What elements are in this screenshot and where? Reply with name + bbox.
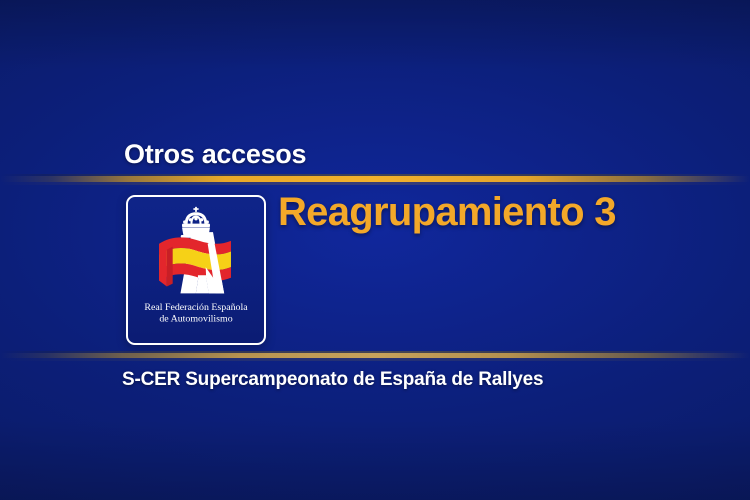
divider-bottom-cap <box>0 351 750 353</box>
divider-bottom-glow <box>0 358 750 361</box>
divider-top-glow <box>0 182 750 185</box>
promo-card: Otros accesos Reagrupamiento 3 S-CER Sup… <box>0 0 750 500</box>
divider-top-cap <box>0 174 750 176</box>
divider-bottom-bar <box>0 353 750 358</box>
kicker-text: Otros accesos <box>124 139 306 170</box>
page-title: Reagrupamiento 3 <box>278 190 616 235</box>
rfea-logo-icon: Real Federación Española de Automovilism… <box>128 197 264 343</box>
logo-line-1: Real Federación Española <box>144 302 248 313</box>
championship-caption: S-CER Supercampeonato de España de Rally… <box>122 369 543 391</box>
divider-bottom <box>0 351 750 361</box>
logo-line-2: de Automovilismo <box>159 313 232 324</box>
divider-top <box>0 174 750 184</box>
rfea-logo-card: Real Federación Española de Automovilism… <box>126 195 266 345</box>
divider-top-bar <box>0 176 750 182</box>
